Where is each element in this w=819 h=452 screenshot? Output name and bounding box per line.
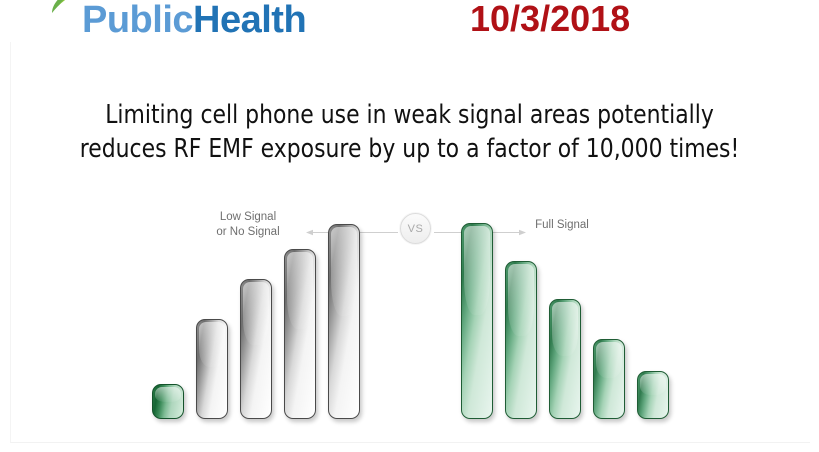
bar-full-signal-1	[461, 223, 493, 419]
low-signal-bar-group	[152, 224, 360, 419]
headline-line-1: Limiting cell phone use in weak signal a…	[69, 98, 749, 132]
bar-low-signal-3	[240, 279, 272, 419]
logo-wordmark: PublicHealth	[82, 0, 306, 42]
leaf-icon	[52, 0, 94, 16]
bar-full-signal-5	[637, 371, 669, 419]
headline: Limiting cell phone use in weak signal a…	[69, 98, 749, 166]
bar-low-signal-5	[328, 224, 360, 419]
low-signal-label-line-1: Low Signal	[196, 210, 300, 225]
slide-canvas: PublicHealth 10/3/2018 Limiting cell pho…	[0, 0, 819, 452]
headline-line-2: reduces RF EMF exposure by up to a facto…	[69, 132, 749, 166]
vs-badge: VS	[400, 213, 431, 244]
bar-low-signal-4	[284, 249, 316, 419]
bar-full-signal-3	[549, 299, 581, 419]
logo-word-health: Health	[193, 0, 306, 41]
bar-full-signal-2	[505, 261, 537, 419]
bar-low-signal-1	[152, 384, 184, 419]
full-signal-bar-group	[461, 223, 669, 419]
bar-low-signal-2	[196, 319, 228, 419]
logo-word-public: Public	[82, 0, 193, 41]
slide-date: 10/3/2018	[470, 0, 630, 42]
bar-full-signal-4	[593, 339, 625, 419]
public-health-logo: PublicHealth	[52, 0, 306, 44]
